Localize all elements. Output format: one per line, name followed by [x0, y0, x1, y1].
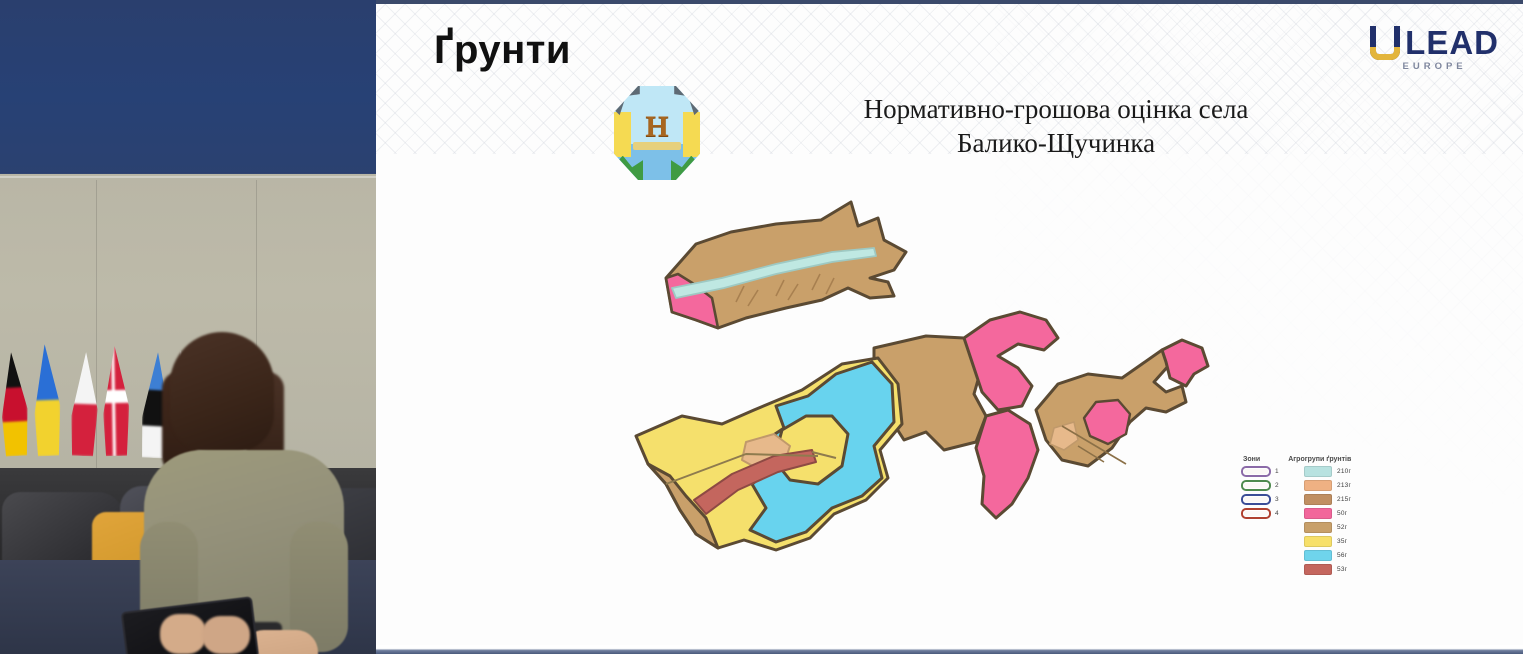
map-region-pink-upper [964, 312, 1058, 410]
legend-group-swatch [1304, 522, 1332, 533]
legend-zone-swatch [1241, 466, 1271, 477]
legend-zone-swatch [1241, 494, 1271, 505]
legend-group-label: 215г [1337, 496, 1351, 503]
emblem-shield: Н [614, 86, 700, 180]
legend-group-row: 213г [1304, 480, 1351, 491]
emblem-letter: Н [645, 110, 668, 144]
hand-right [202, 616, 250, 654]
presenter-figure [150, 332, 336, 654]
legend-zone-swatch [1241, 508, 1271, 519]
wall-seam [0, 176, 376, 178]
legend-zone-swatch [1241, 480, 1271, 491]
page-title: Ґрунти [434, 28, 571, 73]
backdrop-navy-banner [0, 0, 376, 176]
legend-group-swatch [1304, 466, 1332, 477]
legend-zone-number: 1 [1275, 468, 1279, 475]
legend-group-swatch [1304, 564, 1332, 575]
flag-denmark [102, 346, 130, 456]
map-region-pink-lower [976, 410, 1038, 518]
slide-heading-line1: Нормативно-грошова оцінка села [776, 92, 1336, 126]
legend-group-label: 53г [1337, 566, 1347, 573]
emblem-yellow-right [683, 112, 700, 157]
flag-ukraine [32, 344, 62, 457]
ulead-u-mark-icon [1370, 26, 1400, 60]
legend-group-label: 210г [1337, 468, 1351, 475]
legend-body: 1 2 3 4 [1241, 466, 1391, 575]
legend-group-label: 56г [1337, 552, 1347, 559]
ulead-logo-row: LEAD [1370, 26, 1499, 60]
legend-group-row: 53г [1304, 564, 1351, 575]
presenter-video-panel[interactable] [0, 0, 376, 654]
emblem-yellow-left [614, 112, 631, 157]
flag-poland [70, 352, 100, 457]
legend-group-swatch [1304, 550, 1332, 561]
legend-group-row: 50г [1304, 508, 1351, 519]
coat-of-arms-icon: Н [614, 86, 700, 180]
legend-header-zones: Зони [1243, 456, 1260, 463]
legend-group-row: 52г [1304, 522, 1351, 533]
legend-zone-row: 4 [1241, 508, 1297, 519]
map-legend: Зони Агрогрупи ґрунтів 1 2 3 [1241, 456, 1391, 575]
legend-group-swatch [1304, 508, 1332, 519]
legend-group-row: 56г [1304, 550, 1351, 561]
legend-zone-row: 1 [1241, 466, 1297, 477]
hand-left [160, 614, 206, 654]
legend-header-row: Зони Агрогрупи ґрунтів [1241, 456, 1391, 463]
legend-zone-number: 4 [1275, 510, 1279, 517]
presentation-slide[interactable]: Ґрунти LEAD EUROPE Н [376, 0, 1523, 654]
legend-group-row: 35г [1304, 536, 1351, 547]
legend-group-swatch [1304, 494, 1332, 505]
ulead-logo: LEAD EUROPE [1370, 26, 1499, 72]
legend-group-row: 215г [1304, 494, 1351, 505]
slide-heading-line2: Балико-Щучинка [776, 126, 1336, 160]
soil-valuation-map[interactable] [626, 178, 1226, 618]
map-region-pink-right-fringe [1162, 340, 1208, 386]
legend-zone-number: 3 [1275, 496, 1279, 503]
hair-top [170, 332, 274, 452]
legend-group-label: 50г [1337, 510, 1347, 517]
slide-bottom-border [376, 645, 1523, 654]
legend-group-swatch [1304, 480, 1332, 491]
slide-heading: Нормативно-грошова оцінка села Балико-Щу… [776, 92, 1336, 160]
legend-zone-row: 3 [1241, 494, 1297, 505]
legend-group-swatch [1304, 536, 1332, 547]
legend-group-label: 213г [1337, 482, 1351, 489]
legend-group-label: 52г [1337, 524, 1347, 531]
ulead-subtitle: EUROPE [1370, 61, 1499, 72]
screen-root: Ґрунти LEAD EUROPE Н [0, 0, 1523, 654]
ulead-wordmark: LEAD [1405, 27, 1499, 59]
legend-group-column: 210г 213г 215г 50г [1304, 466, 1351, 575]
map-svg [626, 178, 1226, 618]
legend-zone-number: 2 [1275, 482, 1279, 489]
legend-group-row: 210г [1304, 466, 1351, 477]
legend-zone-column: 1 2 3 4 [1241, 466, 1297, 575]
legend-group-label: 35г [1337, 538, 1347, 545]
legend-header-groups: Агрогрупи ґрунтів [1288, 456, 1351, 463]
legend-zone-row: 2 [1241, 480, 1297, 491]
